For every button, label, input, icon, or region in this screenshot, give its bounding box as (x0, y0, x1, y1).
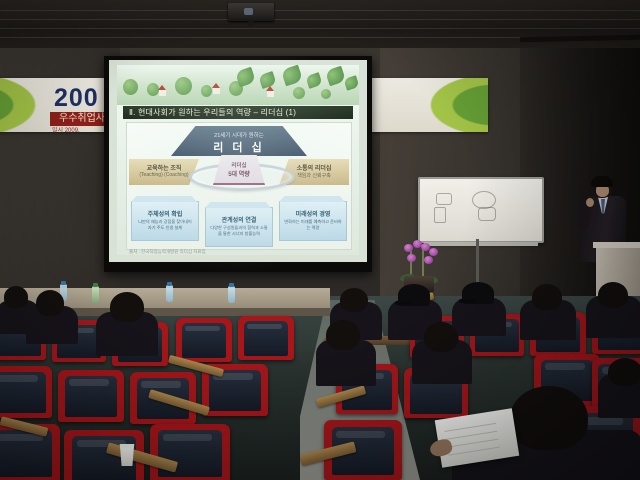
left-wing-line1: 교육하는 조직 (129, 163, 199, 172)
presenter-hand (586, 198, 594, 207)
lectern-top (593, 242, 640, 248)
cube-1-heading: 주체성의 확립 (132, 209, 198, 218)
banner-swoosh-icon-2 (418, 78, 488, 132)
roof-title: 리 더 십 (171, 139, 307, 155)
projector-mount (248, 20, 254, 26)
diagram-cube-1: 주체성의 확립 나만의 재능과 강점을 찾아내어 자기 주도 인생 설계 (131, 201, 199, 241)
cube-3-heading: 미래성의 경영 (280, 209, 346, 218)
diagram-cube-3: 미래성의 경영 변화하는 미래를 예측하고 준비하는 역량 (279, 201, 347, 241)
slide-footer: 출처 : 한국직업능력개발원 리더십 자료집 (129, 249, 206, 255)
seat (150, 424, 230, 480)
seat (58, 370, 124, 422)
presentation-slide: Ⅱ. 현대사회가 원하는 우리들의 역량 – 리더십 (1) 21세기 시대가 … (117, 65, 359, 255)
banner-right: 수회 공진학토론 장소 한동공학관 (356, 78, 488, 132)
lecture-hall-photo: 200 우수취업사 일시 2009. 수회 공진학토론 장소 한동공학관 (0, 0, 640, 480)
core-line1: 리더십 (213, 161, 265, 169)
whiteboard (418, 177, 544, 243)
seat (238, 316, 294, 360)
presenter-hair (591, 176, 613, 187)
water-bottle-3 (166, 285, 173, 302)
diagram-left-wing: 교육하는 조직 (Teaching) (Coaching) (129, 159, 199, 185)
water-bottle-2 (92, 286, 99, 303)
ceiling-projector-icon (228, 3, 274, 21)
banner-left: 200 우수취업사 일시 2009. (0, 78, 116, 132)
projector-lens (244, 8, 253, 15)
cube-3-detail: 변화하는 미래를 예측하고 준비하는 역량 (280, 219, 346, 231)
slide-title: Ⅱ. 현대사회가 원하는 우리들의 역량 – 리더십 (1) (129, 107, 296, 118)
cube-2-detail: 다양한 구성원들과의 협력과 소통을 통한 시너지 창출능력 (206, 225, 272, 237)
banner-swoosh-icon (0, 78, 48, 132)
diagram-cube-2: 관계성의 연결 다양한 구성원들과의 협력과 소통을 통한 시너지 창출능력 (205, 207, 273, 247)
whiteboard-tray (424, 242, 538, 246)
seat (0, 366, 52, 418)
diagram-core: 리더십 5대 역량 (213, 155, 265, 185)
slide-header-graphic (117, 65, 359, 105)
projection-screen-frame: Ⅱ. 현대사회가 원하는 우리들의 역량 – 리더십 (1) 21세기 시대가 … (104, 56, 372, 272)
cube-2-heading: 관계성의 연결 (206, 215, 272, 224)
water-bottle-4 (228, 286, 235, 303)
projection-screen: Ⅱ. 현대사회가 원하는 우리들의 역량 – 리더십 (1) 21세기 시대가 … (109, 60, 367, 262)
slide-title-bar: Ⅱ. 현대사회가 원하는 우리들의 역량 – 리더십 (1) (123, 106, 353, 119)
diagram-roof: 21세기 시대가 원하는 리 더 십 (171, 126, 307, 156)
seat (176, 318, 232, 362)
roof-subtitle: 21세기 시대가 원하는 (171, 131, 307, 139)
slide-diagram: 21세기 시대가 원하는 리 더 십 교육하는 조직 (Teaching) (C… (126, 122, 352, 250)
banner-date: 일시 2009. (52, 125, 80, 132)
banner-year: 200 (54, 84, 99, 113)
cube-1-detail: 나만의 재능과 강점을 찾아내어 자기 주도 인생 설계 (132, 219, 198, 231)
core-line2: 5대 역량 (213, 169, 265, 178)
